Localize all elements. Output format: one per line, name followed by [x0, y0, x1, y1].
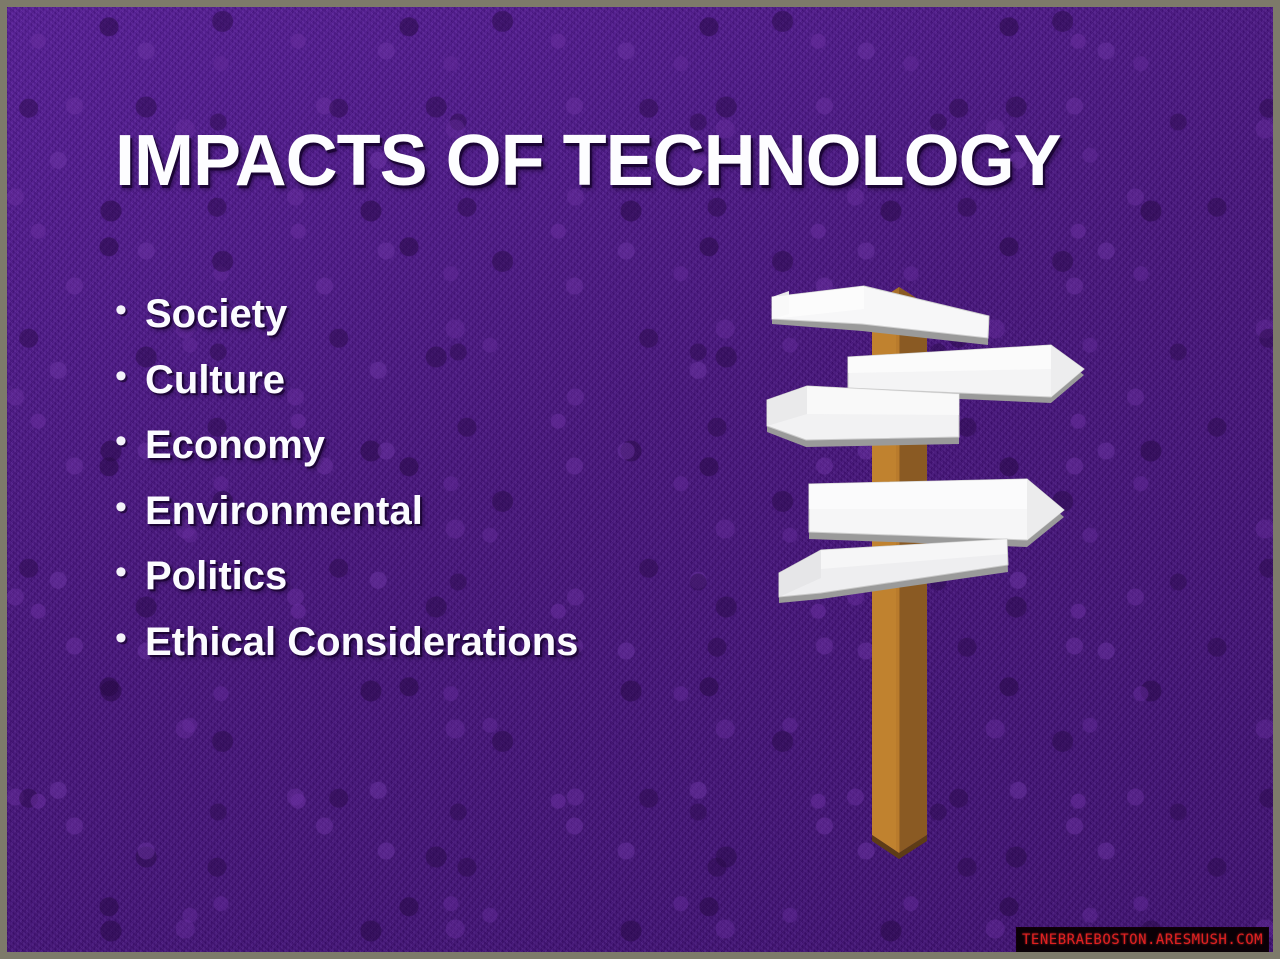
bullet-list: • Society • Culture • Economy • Environm… — [107, 290, 667, 684]
list-item: • Ethical Considerations — [107, 618, 667, 668]
bullet-dot-icon: • — [107, 290, 145, 331]
bullet-label-economy: Economy — [145, 421, 325, 471]
bullet-dot-icon: • — [107, 552, 145, 593]
list-item: • Society — [107, 290, 667, 340]
bullet-label-politics: Politics — [145, 552, 287, 602]
watermark-text: TENEBRAEBOSTON.ARESMUSH.COM — [1022, 932, 1263, 948]
list-item: • Culture — [107, 356, 667, 406]
list-item: • Environmental — [107, 487, 667, 537]
bullet-label-society: Society — [145, 290, 287, 340]
sign-arrow-left-middle — [767, 386, 959, 447]
list-item: • Politics — [107, 552, 667, 602]
bullet-dot-icon: • — [107, 618, 145, 659]
bullet-dot-icon: • — [107, 421, 145, 462]
list-item: • Economy — [107, 421, 667, 471]
bullet-label-culture: Culture — [145, 356, 285, 406]
presentation-slide: IMPACTS OF TECHNOLOGY • Society • Cultur… — [0, 0, 1280, 959]
sign-arrow-right-lower — [809, 479, 1064, 547]
signpost-image — [759, 269, 1099, 879]
watermark-badge: TENEBRAEBOSTON.ARESMUSH.COM — [1016, 927, 1269, 954]
bullet-dot-icon: • — [107, 487, 145, 528]
page-title: IMPACTS OF TECHNOLOGY — [115, 125, 1205, 197]
bullet-label-environmental: Environmental — [145, 487, 423, 537]
bullet-label-ethical-considerations: Ethical Considerations — [145, 618, 578, 668]
bullet-dot-icon: • — [107, 356, 145, 397]
